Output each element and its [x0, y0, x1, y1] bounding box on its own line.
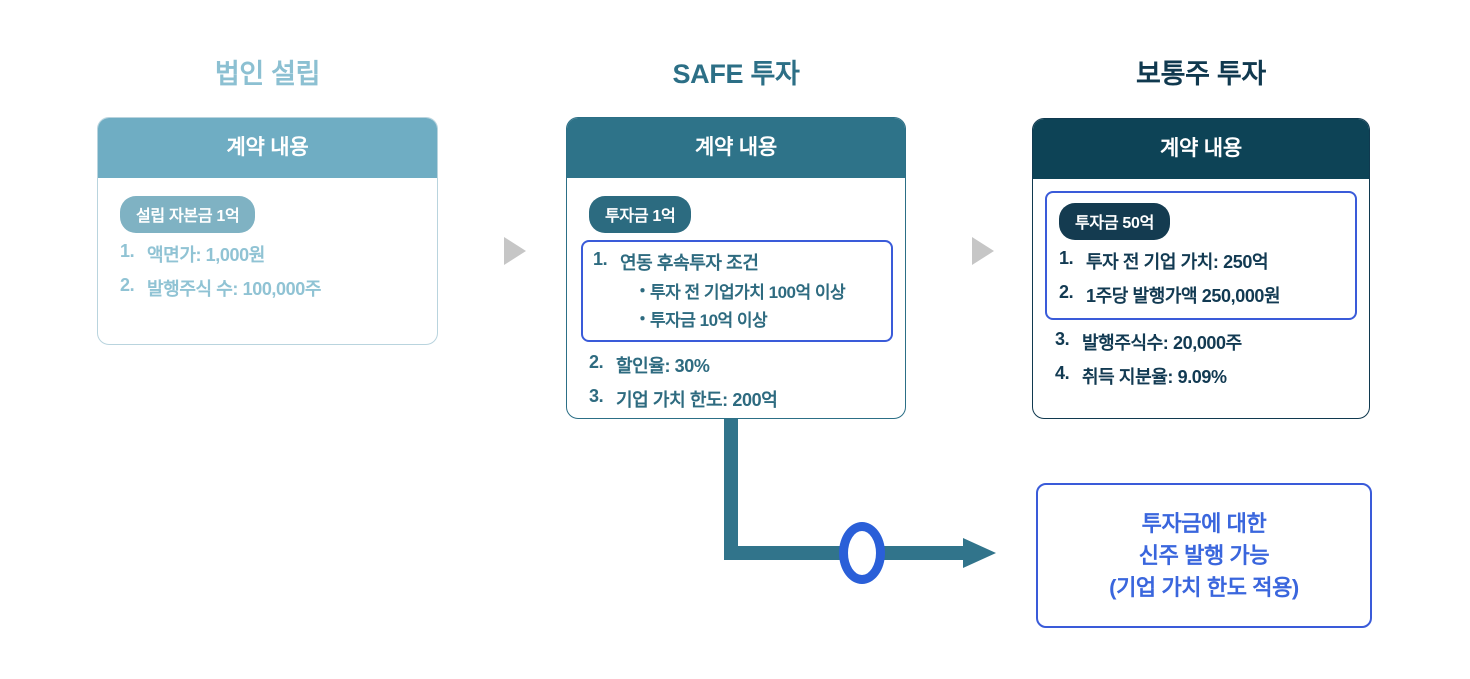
stage-3-card-body: 투자금 50억 1. 투자 전 기업 가치: 250억 2. 1주당 발행가액 … [1033, 179, 1369, 405]
list-item-label: 액면가: 1,000원 [147, 245, 265, 265]
stage-1-item-list: 1. 액면가: 1,000원 2. 발행주식 수: 100,000주 [120, 241, 417, 301]
list-item-label: 투자 전 기업 가치: 250억 [1086, 252, 1268, 272]
stage-2-card: 계약 내용 투자금 1억 1. 연동 후속투자 조건 ・ 투자 전 기업가치 1… [566, 117, 906, 419]
connector-circle-marker-icon [839, 522, 885, 584]
list-item: 2. 발행주식 수: 100,000주 [120, 275, 417, 301]
stage-2-title: SAFE 투자 [566, 52, 906, 91]
list-item-number: 1. [593, 249, 607, 270]
list-item-number: 1. [120, 241, 134, 262]
arrow-head [972, 237, 994, 265]
list-item-number: 3. [1055, 329, 1069, 350]
arrow-head [504, 237, 526, 265]
stage-3-title: 보통주 투자 [1032, 52, 1370, 91]
list-item-number: 1. [1059, 248, 1073, 269]
outcome-note-line: (기업 가치 한도 적용) [1109, 572, 1299, 604]
list-item: 2. 할인율: 30% [589, 352, 885, 378]
stage-2-pill-badge: 투자금 1억 [589, 196, 691, 233]
list-item-label: 발행주식 수: 100,000주 [147, 279, 321, 299]
list-item: 3. 발행주식수: 20,000주 [1055, 329, 1349, 355]
bullet-icon: ・ [634, 305, 651, 330]
list-item: 3. 기업 가치 한도: 200억 [589, 386, 885, 412]
connector-vertical-segment [724, 419, 738, 546]
arrow-shaft [476, 238, 506, 255]
bullet-icon: ・ [634, 277, 651, 302]
list-item-label: 기업 가치 한도: 200억 [616, 390, 777, 410]
stage-2-highlight-box: 1. 연동 후속투자 조건 ・ 투자 전 기업가치 100억 이상 ・ 투자금 … [581, 240, 893, 342]
stage-2-card-body: 투자금 1억 1. 연동 후속투자 조건 ・ 투자 전 기업가치 100억 이상… [567, 178, 905, 419]
outcome-note-line: 신주 발행 가능 [1139, 540, 1269, 572]
list-item-label: 연동 후속투자 조건 [620, 253, 758, 273]
arrow-shaft [944, 238, 974, 255]
list-item-number: 2. [1059, 282, 1073, 303]
diagram-canvas: 법인 설립 계약 내용 설립 자본금 1억 1. 액면가: 1,000원 2. … [0, 0, 1470, 679]
list-item: 2. 1주당 발행가액 250,000원 [1059, 282, 1345, 308]
stage-3-highlight-box: 투자금 50억 1. 투자 전 기업 가치: 250억 2. 1주당 발행가액 … [1045, 191, 1357, 320]
stage-3-pill-badge: 투자금 50억 [1059, 203, 1170, 240]
stage-3-card-header: 계약 내용 [1033, 119, 1369, 179]
stage-transition-arrow-2-icon [944, 238, 996, 264]
sub-list-item: ・ 투자금 10억 이상 [634, 306, 883, 331]
stage-2-item-list: 2. 할인율: 30% 3. 기업 가치 한도: 200억 [589, 352, 885, 412]
list-item-number: 3. [589, 386, 603, 407]
sub-list-item-label: 투자 전 기업가치 100억 이상 [650, 283, 845, 302]
list-item: 1. 연동 후속투자 조건 ・ 투자 전 기업가치 100억 이상 ・ 투자금 … [593, 249, 883, 331]
list-item-label: 취득 지분율: 9.09% [1082, 367, 1227, 387]
sub-list-item: ・ 투자 전 기업가치 100억 이상 [634, 278, 883, 303]
stage-transition-arrow-1-icon [476, 238, 528, 264]
list-item: 4. 취득 지분율: 9.09% [1055, 363, 1349, 389]
list-item-number: 2. [120, 275, 134, 296]
stage-1-card-header: 계약 내용 [98, 118, 437, 178]
connector-arrow-head-icon [963, 538, 996, 568]
stage-1-pill-badge: 설립 자본금 1억 [120, 196, 255, 233]
outcome-note-box: 투자금에 대한 신주 발행 가능 (기업 가치 한도 적용) [1036, 483, 1372, 628]
stage-2-card-header: 계약 내용 [567, 118, 905, 178]
stage-3-card: 계약 내용 투자금 50억 1. 투자 전 기업 가치: 250억 2. 1주당… [1032, 118, 1370, 419]
list-item: 1. 액면가: 1,000원 [120, 241, 417, 267]
list-item-label: 발행주식수: 20,000주 [1082, 333, 1242, 353]
stage-3-highlight-list: 1. 투자 전 기업 가치: 250억 2. 1주당 발행가액 250,000원 [1059, 248, 1345, 308]
stage-1-card: 계약 내용 설립 자본금 1억 1. 액면가: 1,000원 2. 발행주식 수… [97, 117, 438, 345]
stage-3-item-list: 3. 발행주식수: 20,000주 4. 취득 지분율: 9.09% [1055, 329, 1349, 389]
stage-1-title: 법인 설립 [97, 52, 438, 91]
list-item: 1. 투자 전 기업 가치: 250억 [1059, 248, 1345, 274]
sub-list-item-label: 투자금 10억 이상 [650, 311, 767, 330]
list-item-number: 4. [1055, 363, 1069, 384]
list-item-number: 2. [589, 352, 603, 373]
list-item-label: 1주당 발행가액 250,000원 [1086, 286, 1280, 306]
sub-list: ・ 투자 전 기업가치 100억 이상 ・ 투자금 10억 이상 [620, 278, 883, 331]
outcome-note-line: 투자금에 대한 [1142, 508, 1267, 540]
stage-1-card-body: 설립 자본금 1억 1. 액면가: 1,000원 2. 발행주식 수: 100,… [98, 178, 437, 317]
list-item-label: 할인율: 30% [616, 356, 710, 376]
stage-2-highlight-list: 1. 연동 후속투자 조건 ・ 투자 전 기업가치 100억 이상 ・ 투자금 … [593, 249, 883, 331]
